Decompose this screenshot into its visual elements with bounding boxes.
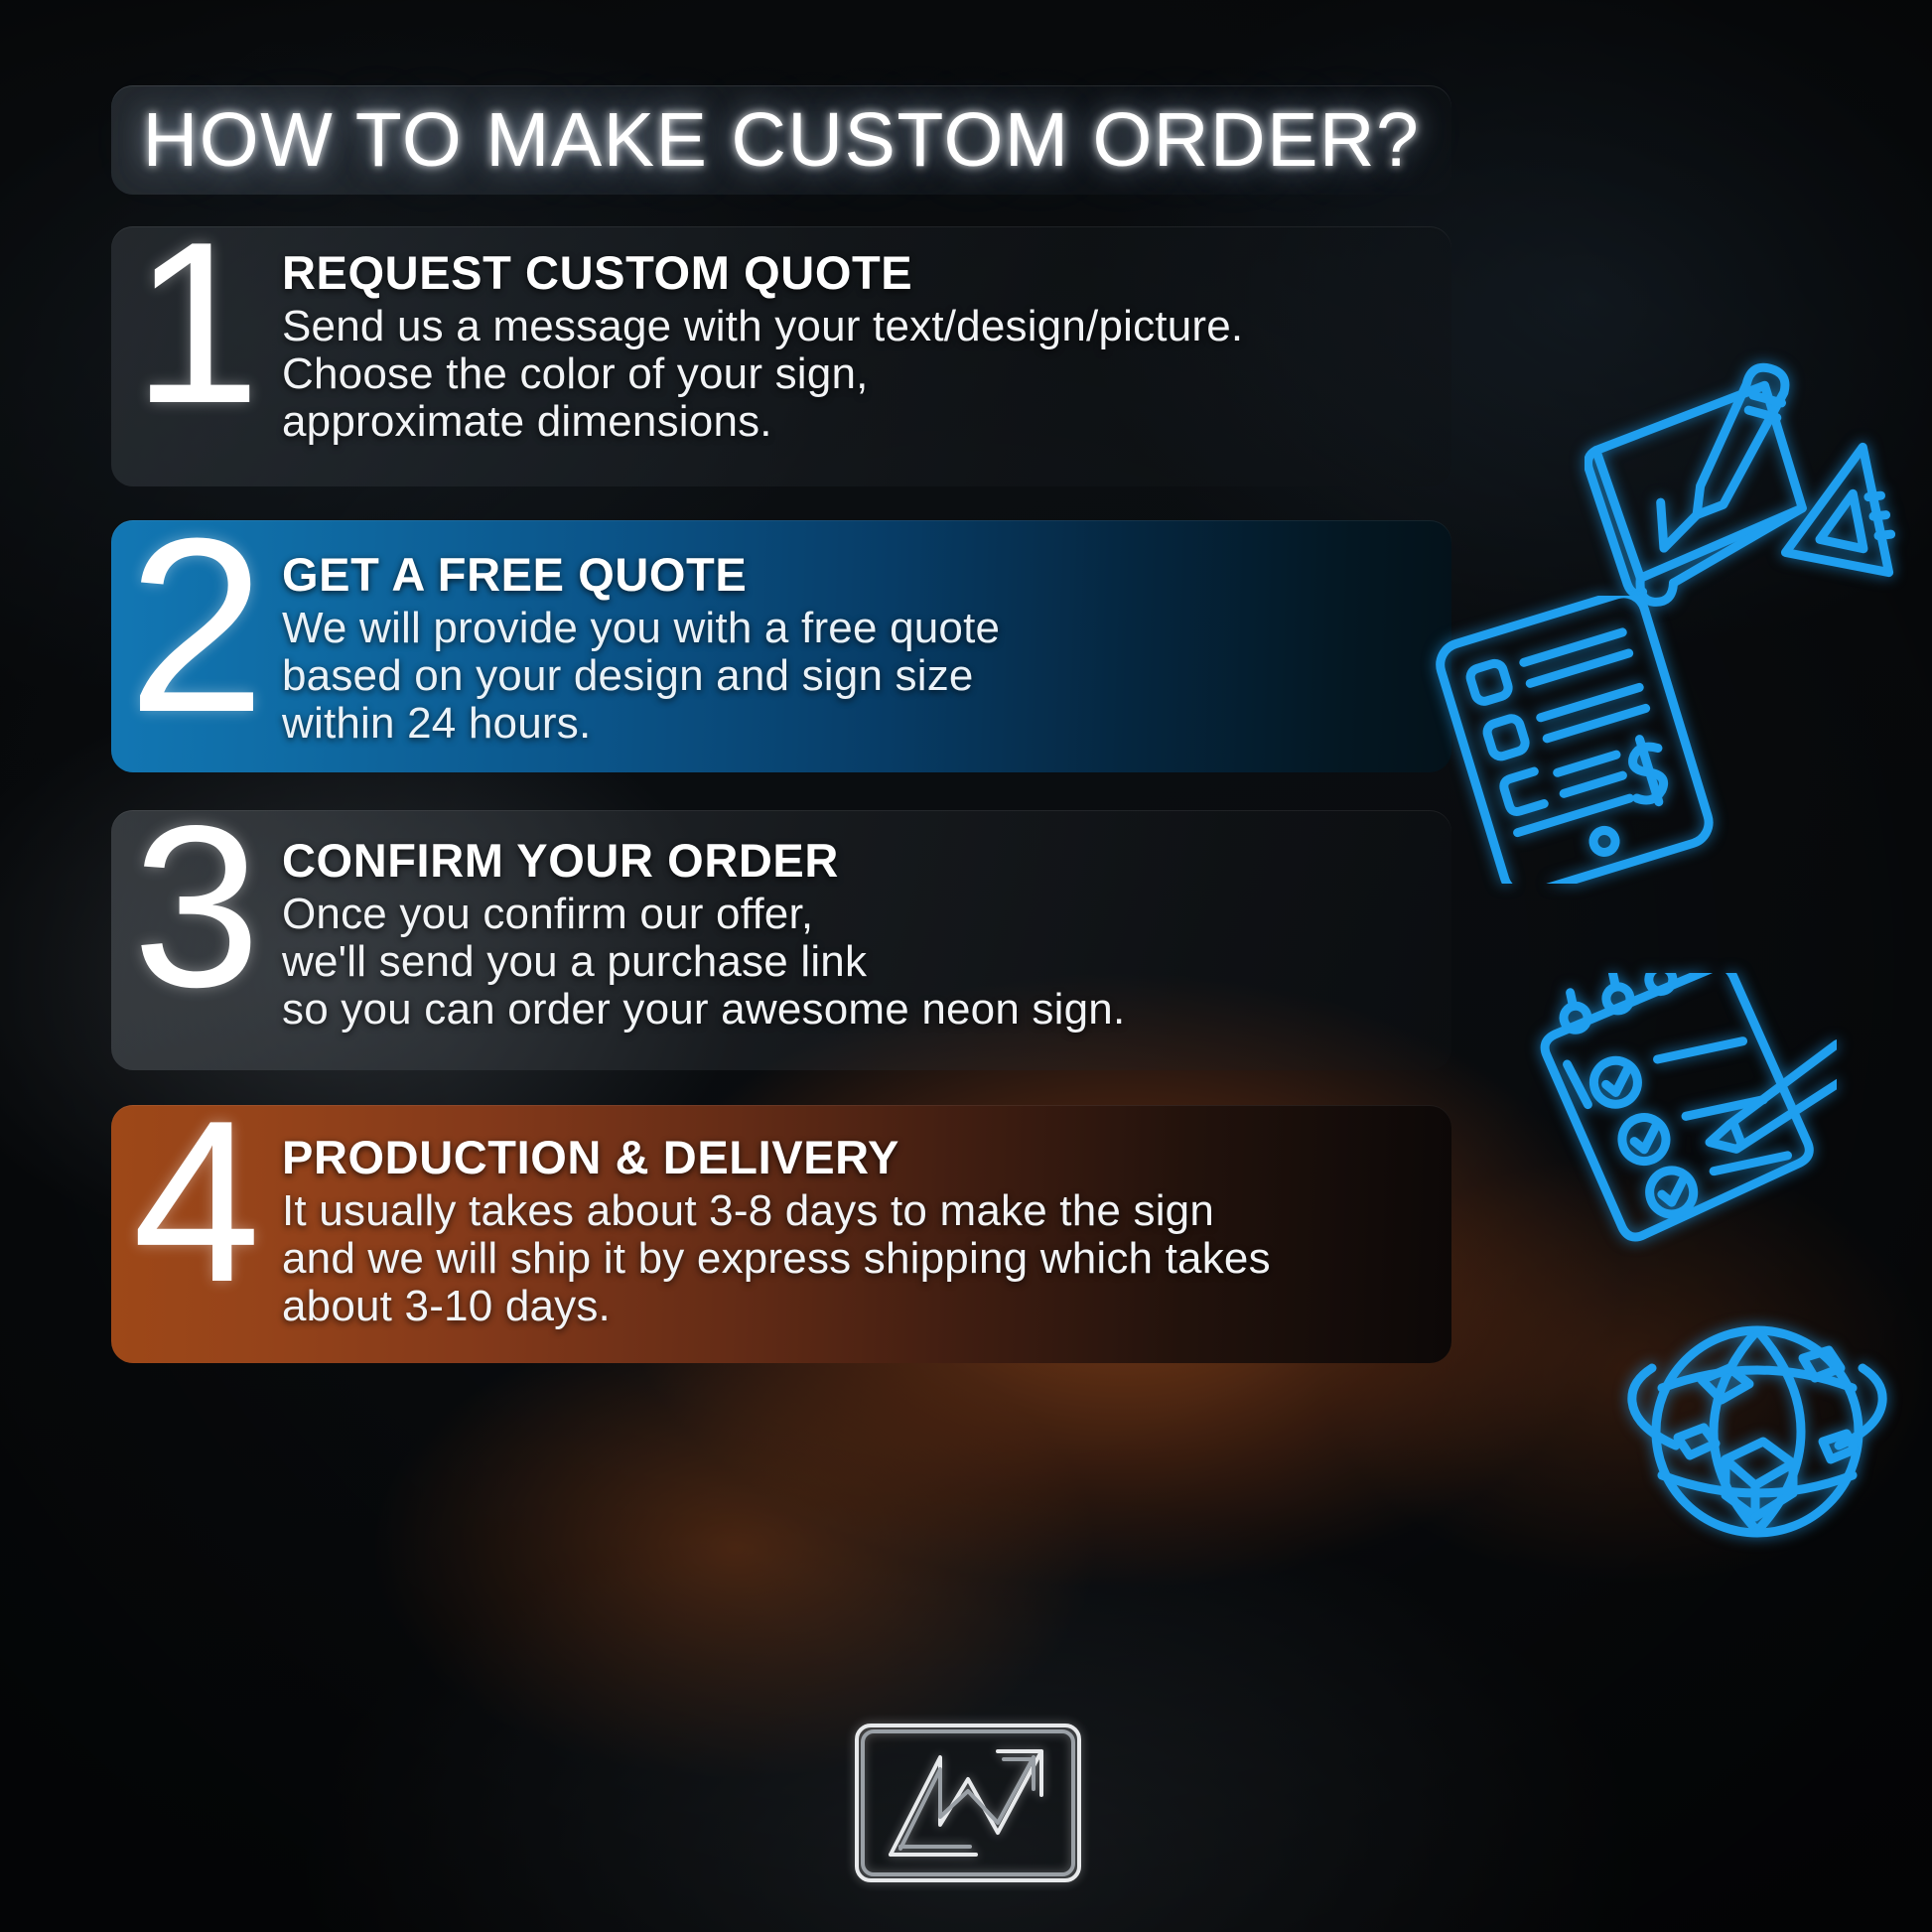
step-heading-1: REQUEST CUSTOM QUOTE bbox=[282, 248, 1451, 297]
step-number-1: 1 bbox=[111, 226, 282, 425]
step-card-1: 1 REQUEST CUSTOM QUOTE Send us a message… bbox=[111, 226, 1451, 486]
checklist-clipboard-pencil-icon bbox=[1529, 973, 1837, 1261]
page-title: HOW TO MAKE CUSTOM ORDER? bbox=[143, 96, 1421, 185]
step-body-2: We will provide you with a free quote ba… bbox=[282, 605, 1451, 748]
page-title-card: HOW TO MAKE CUSTOM ORDER? bbox=[111, 85, 1451, 195]
step-heading-4: PRODUCTION & DELIVERY bbox=[282, 1133, 1451, 1181]
step-body-1: Send us a message with your text/design/… bbox=[282, 303, 1451, 446]
step-heading-3: CONFIRM YOUR ORDER bbox=[282, 836, 1451, 885]
step-card-3: 3 CONFIRM YOUR ORDER Once you confirm ou… bbox=[111, 810, 1451, 1070]
step-heading-2: GET A FREE QUOTE bbox=[282, 550, 1451, 599]
step-number-2: 2 bbox=[111, 520, 282, 735]
step-card-2: 2 GET A FREE QUOTE We will provide you w… bbox=[111, 520, 1451, 772]
step-number-4: 4 bbox=[111, 1105, 282, 1304]
ln-neon-monogram-logo[interactable] bbox=[849, 1714, 1087, 1892]
step-number-3: 3 bbox=[111, 810, 282, 1009]
blueprint-pencil-ruler-icon bbox=[1585, 349, 1912, 608]
invoice-dollar-document-icon bbox=[1432, 596, 1729, 884]
infographic-root: HOW TO MAKE CUSTOM ORDER? 1 REQUEST CUST… bbox=[0, 0, 1932, 1932]
step-body-3: Once you confirm our offer, we'll send y… bbox=[282, 891, 1451, 1034]
step-body-4: It usually takes about 3-8 days to make … bbox=[282, 1187, 1451, 1330]
step-card-4: 4 PRODUCTION & DELIVERY It usually takes… bbox=[111, 1105, 1451, 1363]
globe-shipping-boxes-icon bbox=[1618, 1311, 1896, 1559]
